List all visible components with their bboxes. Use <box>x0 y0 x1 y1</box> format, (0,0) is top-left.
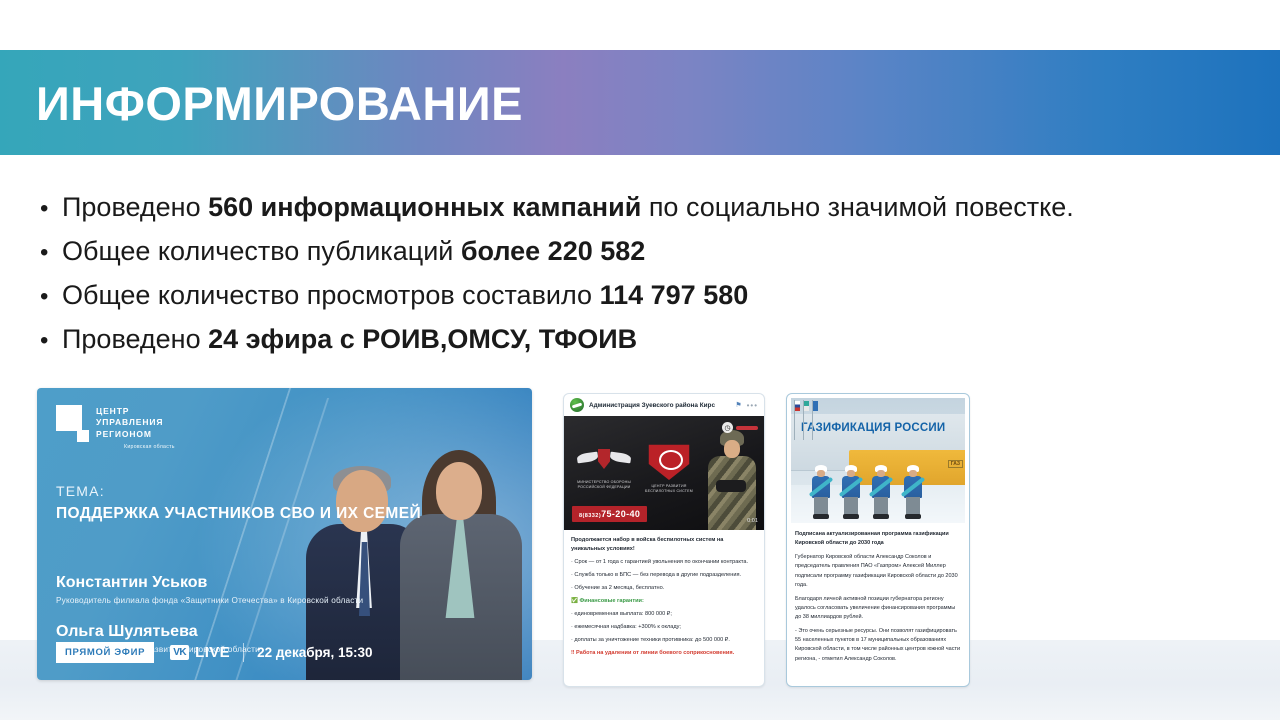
worker-figure <box>903 465 923 517</box>
bullet-text-4: Проведено 24 эфира с РОИВ,ОМСУ, ТФОИВ <box>62 324 637 355</box>
video-top-badge: ◷ <box>722 422 758 433</box>
vk-post-guarantee-1: · единовременная выплата: 800 000 ₽; <box>571 610 757 619</box>
bullet-item-1: • Проведено 560 информационных кампаний … <box>40 192 1240 236</box>
vk-post-item-3: · Обучение за 2 месяца, бесплатно. <box>571 584 757 593</box>
flag-russia-icon <box>794 400 800 426</box>
vk-post-item-1: · Срок — от 1 года с гарантией увольнени… <box>571 558 757 567</box>
flag-region-icon <box>803 400 809 426</box>
gasification-lead: Подписана актуализированная программа га… <box>795 530 961 548</box>
bullet-4-part-2: 24 эфира с РОИВ,ОМСУ, ТФОИВ <box>208 324 637 354</box>
phone-prefix: 8(8332) <box>579 513 601 519</box>
bullet-3-part-1: Общее количество просмотров составило <box>62 280 600 310</box>
bullet-1-part-1: Проведено <box>62 192 208 222</box>
flag-gazprom-icon <box>812 400 818 426</box>
logo-square-large <box>56 405 82 431</box>
gas-tank-label: ГАЗ <box>948 460 963 468</box>
vk-post-card[interactable]: Администрация Зуевского района Кирс ⚑ ••… <box>563 393 765 687</box>
facility-banner-text: ГАЗИФИКАЦИЯ РОССИИ <box>801 422 945 434</box>
cur-logo-line-2: УПРАВЛЕНИЯ <box>96 417 175 428</box>
bullet-3-part-2: 114 797 580 <box>600 280 749 310</box>
vk-live-label: LIVE <box>195 644 230 661</box>
clock-icon: ◷ <box>722 422 733 433</box>
bps-shield <box>646 440 692 480</box>
gasification-text: Подписана актуализированная программа га… <box>787 523 969 677</box>
vk-live-logo: VK LIVE <box>170 644 230 661</box>
broadcast-announcement-card[interactable]: ЦЕНТР УПРАВЛЕНИЯ РЕГИОНОМ Кировская обла… <box>37 388 532 680</box>
broadcast-datetime: 22 декабря, 15:30 <box>257 645 372 660</box>
vk-icon: VK <box>170 645 189 660</box>
bullet-item-2: • Общее количество публикаций более 220 … <box>40 236 1240 280</box>
worker-figure <box>841 465 861 517</box>
soldier-figure <box>704 426 760 530</box>
bullet-list: • Проведено 560 информационных кампаний … <box>40 192 1240 368</box>
cur-logo-text: ЦЕНТР УПРАВЛЕНИЯ РЕГИОНОМ Кировская обла… <box>96 405 175 452</box>
emblem-mod-caption: МИНИСТЕРСТВО ОБОРОНЫ РОССИЙСКОЙ ФЕДЕРАЦИ… <box>576 480 632 491</box>
gasification-news-card[interactable]: ГАЗИФИКАЦИЯ РОССИИ ГАЗ Подписана актуали… <box>786 393 970 687</box>
drone-icon <box>659 450 683 470</box>
vk-post-guarantees-title: ✅ Финансовые гарантии: <box>571 597 757 606</box>
page-title: ИНФОРМИРОВАНИЕ <box>36 76 523 131</box>
bullet-2-part-2: более 220 582 <box>461 236 645 266</box>
badge-bar <box>736 426 758 430</box>
soldier-face <box>724 440 740 458</box>
vk-post-text: Продолжается набор в войска беспилотных … <box>564 530 764 670</box>
vk-post-lead: Продолжается набор в войска беспилотных … <box>571 536 757 554</box>
bullet-item-3: • Общее количество просмотров составило … <box>40 280 1240 324</box>
worker-figure <box>811 465 831 517</box>
vk-post-warning: ‼ Работа на удалении от линии боевого со… <box>571 649 757 658</box>
bullet-text-3: Общее количество просмотров составило 11… <box>62 280 748 311</box>
group-avatar-icon <box>570 398 584 412</box>
speaker-female-figure <box>400 448 522 680</box>
header-banner: ИНФОРМИРОВАНИЕ <box>0 50 1280 155</box>
gasification-paragraph-2: Благодаря личной активной позиции губерн… <box>795 595 961 622</box>
guarantees-title-text: Финансовые гарантии: <box>580 598 644 604</box>
bullet-dot-icon: • <box>40 197 62 221</box>
cur-logo-line-3: РЕГИОНОМ <box>96 429 175 440</box>
emblem-bps-caption: ЦЕНТР РАЗВИТИЯ БЕСПИЛОТНЫХ СИСТЕМ <box>642 484 696 495</box>
more-options-icon[interactable]: ••• <box>747 401 758 410</box>
gasification-photo: ГАЗИФИКАЦИЯ РОССИИ ГАЗ <box>791 398 965 523</box>
phone-number: 75-20-40 <box>601 509 640 519</box>
bullet-text-2: Общее количество публикаций более 220 58… <box>62 236 645 267</box>
vk-post-guarantee-3: · доплаты за уничтожение техники противн… <box>571 636 757 645</box>
female-head <box>436 462 482 520</box>
eagle-wing-left <box>576 452 598 464</box>
broadcast-footer: ПРЯМОЙ ЭФИР VK LIVE 22 декабря, 15:30 <box>56 642 373 663</box>
check-icon: ✅ <box>571 598 578 604</box>
live-badge: ПРЯМОЙ ЭФИР <box>56 642 154 663</box>
theme-label: ТЕМА: <box>56 483 105 499</box>
bullet-dot-icon: • <box>40 285 62 309</box>
recruitment-phone-banner: 8(8332)75-20-40 <box>572 506 647 522</box>
video-duration: 0:01 <box>747 518 758 524</box>
cur-logo-subtitle: Кировская область <box>124 444 175 451</box>
cur-logo-mark-icon <box>56 405 90 447</box>
bullet-item-4: • Проведено 24 эфира с РОИВ,ОМСУ, ТФОИВ <box>40 324 1240 368</box>
eagle-icon <box>577 446 631 476</box>
vk-post-video-thumbnail[interactable]: МИНИСТЕРСТВО ОБОРОНЫ РОССИЙСКОЙ ФЕДЕРАЦИ… <box>564 416 764 530</box>
gasification-paragraph-1: Губернатор Кировской области Александр С… <box>795 553 961 590</box>
bullet-dot-icon: • <box>40 329 62 353</box>
cur-logo: ЦЕНТР УПРАВЛЕНИЯ РЕГИОНОМ Кировская обла… <box>56 405 175 452</box>
bullet-1-part-2: 560 информационных кампаний <box>208 192 641 222</box>
bullet-dot-icon: • <box>40 241 62 265</box>
warning-icon: ‼ <box>571 650 574 656</box>
footer-divider <box>243 643 244 662</box>
pin-icon: ⚑ <box>735 401 741 409</box>
flag-row <box>794 400 818 426</box>
vk-post-item-2: · Служба только в БПС — без перевода в д… <box>571 571 757 580</box>
speaker-1-name: Константин Уськов <box>56 574 207 592</box>
cur-logo-line-1: ЦЕНТР <box>96 406 175 417</box>
warning-text: Работа на удалении от линии боевого сопр… <box>576 650 734 656</box>
eagle-wing-right <box>609 452 631 464</box>
bps-center-emblem-icon: ЦЕНТР РАЗВИТИЯ БЕСПИЛОТНЫХ СИСТЕМ <box>642 440 696 495</box>
eagle-shield <box>598 449 610 469</box>
worker-figure <box>871 465 891 517</box>
ministry-of-defence-emblem-icon: МИНИСТЕРСТВО ОБОРОНЫ РОССИЙСКОЙ ФЕДЕРАЦИ… <box>576 446 632 491</box>
speaker-2-name: Ольга Шулятьева <box>56 623 198 641</box>
vk-post-guarantee-2: · ежемесячная надбавка: +300% к окладу; <box>571 623 757 632</box>
vk-post-header: Администрация Зуевского района Кирс ⚑ ••… <box>564 394 764 416</box>
bullet-1-part-3: по социально значимой повестке. <box>641 192 1074 222</box>
soldier-controller <box>716 480 746 492</box>
speaker-1-role: Руководитель филиала фонда «Защитники От… <box>56 595 363 607</box>
logo-square-small <box>77 430 89 442</box>
theme-text: ПОДДЕРЖКА УЧАСТНИКОВ СВО И ИХ СЕМЕЙ <box>56 504 421 524</box>
bullet-text-1: Проведено 560 информационных кампаний по… <box>62 192 1074 223</box>
vk-group-name: Администрация Зуевского района Кирс <box>589 402 730 409</box>
gasification-paragraph-3: - Это очень серьезные ресурсы. Они позво… <box>795 627 961 664</box>
bullet-2-part-1: Общее количество публикаций <box>62 236 461 266</box>
bullet-4-part-1: Проведено <box>62 324 208 354</box>
